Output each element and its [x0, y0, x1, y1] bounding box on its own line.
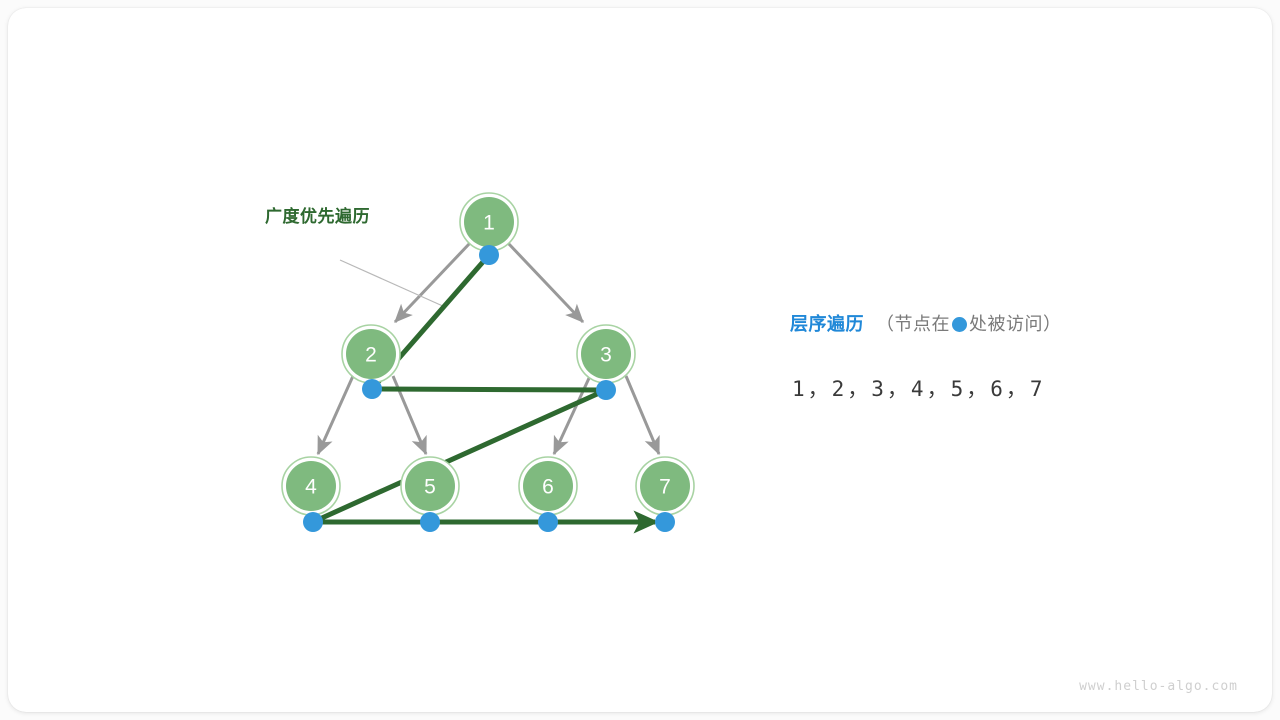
tree-node-2[interactable]: 2 [342, 325, 400, 383]
visit-dot-icon-2[interactable] [362, 379, 382, 399]
node-label: 7 [659, 476, 671, 499]
caption-leader-line [340, 260, 445, 307]
legend-title: 层序遍历 [790, 314, 864, 334]
node-label: 2 [365, 344, 377, 367]
bfs-caption: 广度优先遍历 [265, 202, 370, 227]
node-label: 6 [542, 476, 554, 499]
tree-node-4[interactable]: 4 [282, 457, 340, 515]
legend-note-prefix: （节点在 [876, 314, 950, 334]
node-label: 5 [424, 476, 436, 499]
tree-node-7[interactable]: 7 [636, 457, 694, 515]
site-watermark: www.hello-algo.com [1079, 679, 1238, 694]
tree-edge-1-3 [508, 243, 583, 322]
tree-edge-3-7 [626, 376, 659, 454]
traversal-sequence: 1，2，3，4，5，6，7 [792, 373, 1046, 403]
diagram-card: 1 2 3 4 [8, 8, 1272, 712]
tree-node-5[interactable]: 5 [401, 457, 459, 515]
tree-nodes: 1 2 3 4 [282, 193, 694, 515]
binary-tree-diagram: 1 2 3 4 [8, 8, 1272, 712]
legend-block: 层序遍历（节点在处被访问） [790, 310, 1062, 336]
tree-node-3[interactable]: 3 [577, 325, 635, 383]
visit-dot-icon-5[interactable] [420, 512, 440, 532]
tree-edge-1-2 [395, 243, 470, 322]
legend-note: （节点在处被访问） [876, 314, 1062, 334]
visit-dot-icon-6[interactable] [538, 512, 558, 532]
tree-node-1[interactable]: 1 [460, 193, 518, 251]
visit-dot-icon-4[interactable] [303, 512, 323, 532]
visit-dot-icon-3[interactable] [596, 380, 616, 400]
node-label: 4 [305, 476, 317, 499]
node-label: 1 [483, 212, 495, 235]
visit-dot-icon-7[interactable] [655, 512, 675, 532]
tree-node-6[interactable]: 6 [519, 457, 577, 515]
tree-edge-2-4 [318, 376, 353, 454]
node-label: 3 [600, 344, 612, 367]
screenshot-stage: 1 2 3 4 [0, 0, 1280, 720]
legend-note-suffix: 处被访问） [969, 314, 1062, 334]
visit-dot-icon-1[interactable] [479, 245, 499, 265]
visit-dot-icon [952, 317, 967, 332]
